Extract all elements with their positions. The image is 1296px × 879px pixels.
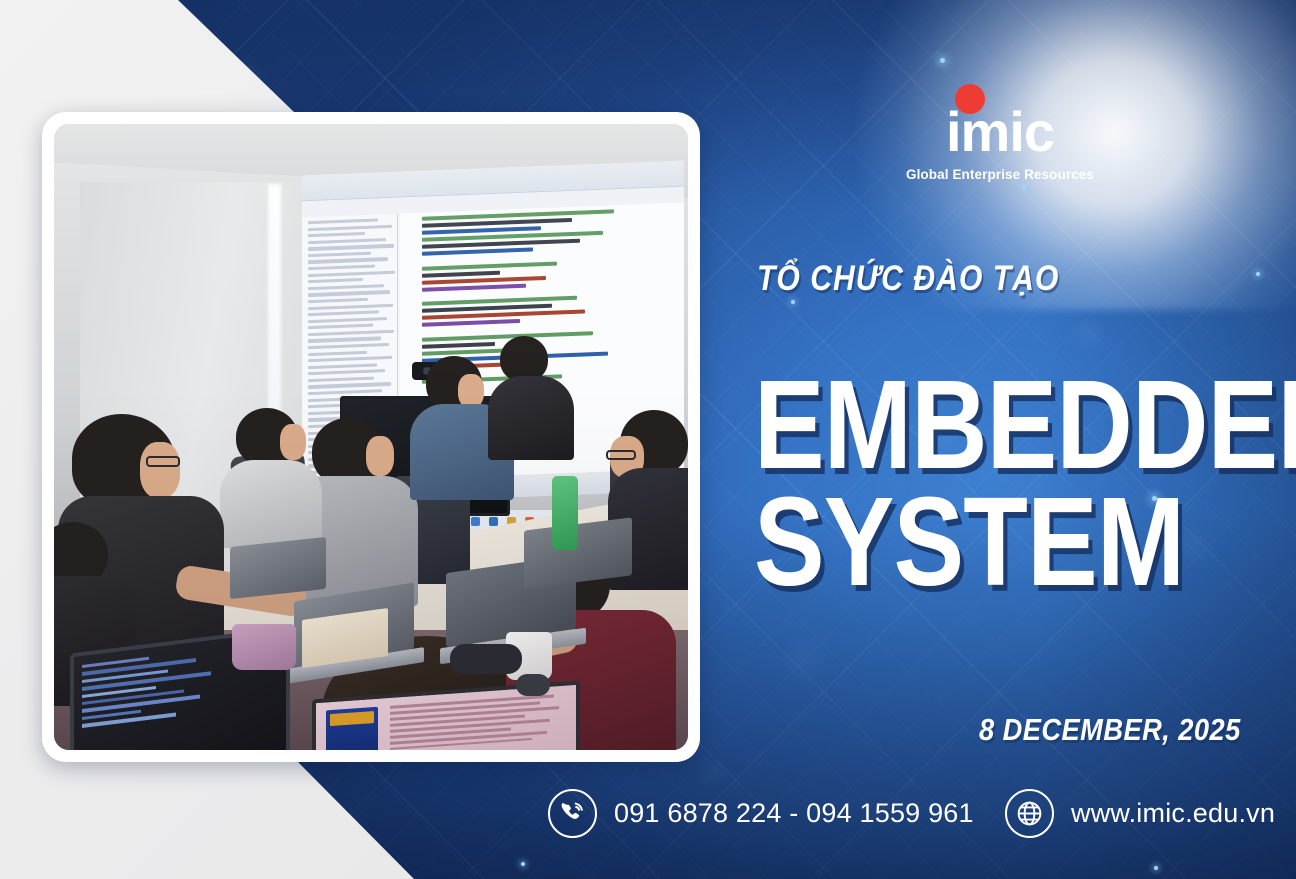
photo-person-face: [366, 436, 394, 476]
photo-mug: [232, 624, 296, 670]
sparkle-node-icon: [940, 58, 945, 63]
sparkle-node-icon: [1256, 272, 1260, 276]
phone-icon: [548, 789, 597, 838]
classroom-photo: [54, 124, 688, 750]
sparkle-node-icon: [791, 300, 795, 304]
sparkle-node-icon: [1022, 185, 1026, 189]
headline-line-2: SYSTEM: [754, 483, 1191, 600]
sparkle-node-icon: [521, 862, 525, 866]
photo-person-face: [458, 374, 484, 408]
contact-website[interactable]: www.imic.edu.vn: [1005, 789, 1275, 838]
phone-number: 091 6878 224 - 094 1559 961: [614, 798, 974, 829]
event-date: 8 DECEMBER, 2025: [979, 712, 1241, 748]
photo-person-face: [280, 424, 306, 460]
photo-person-glasses: [146, 456, 180, 467]
photo-person-shirt: [488, 376, 574, 460]
sparkle-node-icon: [1154, 866, 1158, 870]
photo-person-shirt: [220, 460, 322, 548]
photo-water-bottle: [552, 476, 578, 550]
photo-headphones: [450, 644, 522, 674]
logo-mark: imic: [946, 86, 1054, 160]
website-url: www.imic.edu.vn: [1071, 798, 1275, 829]
logo-tagline: Global Enterprise Resources: [900, 167, 1100, 182]
kicker-text: TỔ CHỨC ĐÀO TẠO: [757, 259, 1059, 299]
page-title: EMBEDDED SYSTEM: [754, 366, 1191, 600]
contact-phone[interactable]: 091 6878 224 - 094 1559 961: [548, 789, 974, 838]
photo-person-glasses: [606, 450, 636, 460]
footer-bar: 091 6878 224 - 094 1559 961 www.imic.edu…: [0, 789, 1296, 849]
poster-canvas: imic Global Enterprise Resources TỔ CHỨC…: [0, 0, 1296, 879]
globe-icon: [1005, 789, 1054, 838]
photo-mouse: [516, 674, 550, 696]
photo-card: [42, 112, 700, 762]
photo-person-face: [140, 442, 180, 498]
red-dot-icon: [955, 84, 985, 114]
imic-logo: imic Global Enterprise Resources: [900, 86, 1100, 182]
